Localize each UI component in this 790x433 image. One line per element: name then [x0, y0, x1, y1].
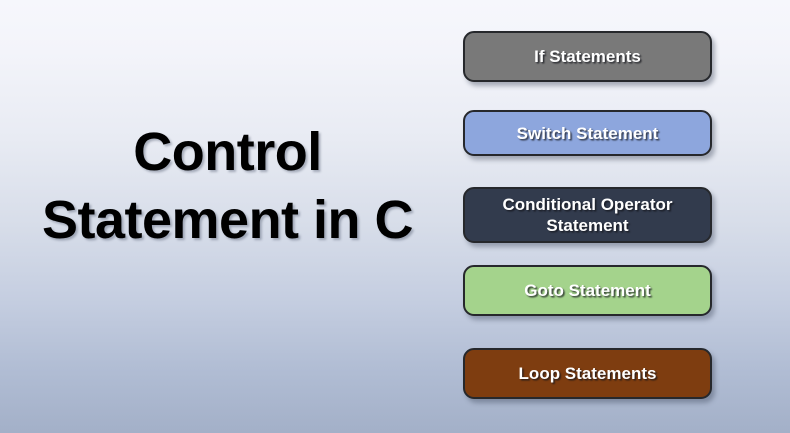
button-conditional-operator-statement-label: Conditional Operator Statement	[465, 194, 710, 236]
button-if-statements[interactable]: If Statements	[463, 31, 712, 82]
page-title-line-1: Control	[0, 118, 455, 186]
button-switch-statement[interactable]: Switch Statement	[463, 110, 712, 156]
button-conditional-operator-statement[interactable]: Conditional Operator Statement	[463, 187, 712, 243]
button-if-statements-label: If Statements	[524, 46, 651, 67]
button-goto-statement[interactable]: Goto Statement	[463, 265, 712, 316]
button-loop-statements-label: Loop Statements	[509, 363, 667, 384]
button-loop-statements[interactable]: Loop Statements	[463, 348, 712, 399]
button-goto-statement-label: Goto Statement	[514, 280, 661, 301]
statement-type-list: If Statements Switch Statement Condition…	[463, 31, 712, 399]
page-title: Control Statement in C	[0, 118, 455, 254]
button-switch-statement-label: Switch Statement	[507, 123, 669, 144]
slide-canvas: Control Statement in C If Statements Swi…	[0, 0, 790, 433]
page-title-line-2: Statement in C	[0, 186, 455, 254]
